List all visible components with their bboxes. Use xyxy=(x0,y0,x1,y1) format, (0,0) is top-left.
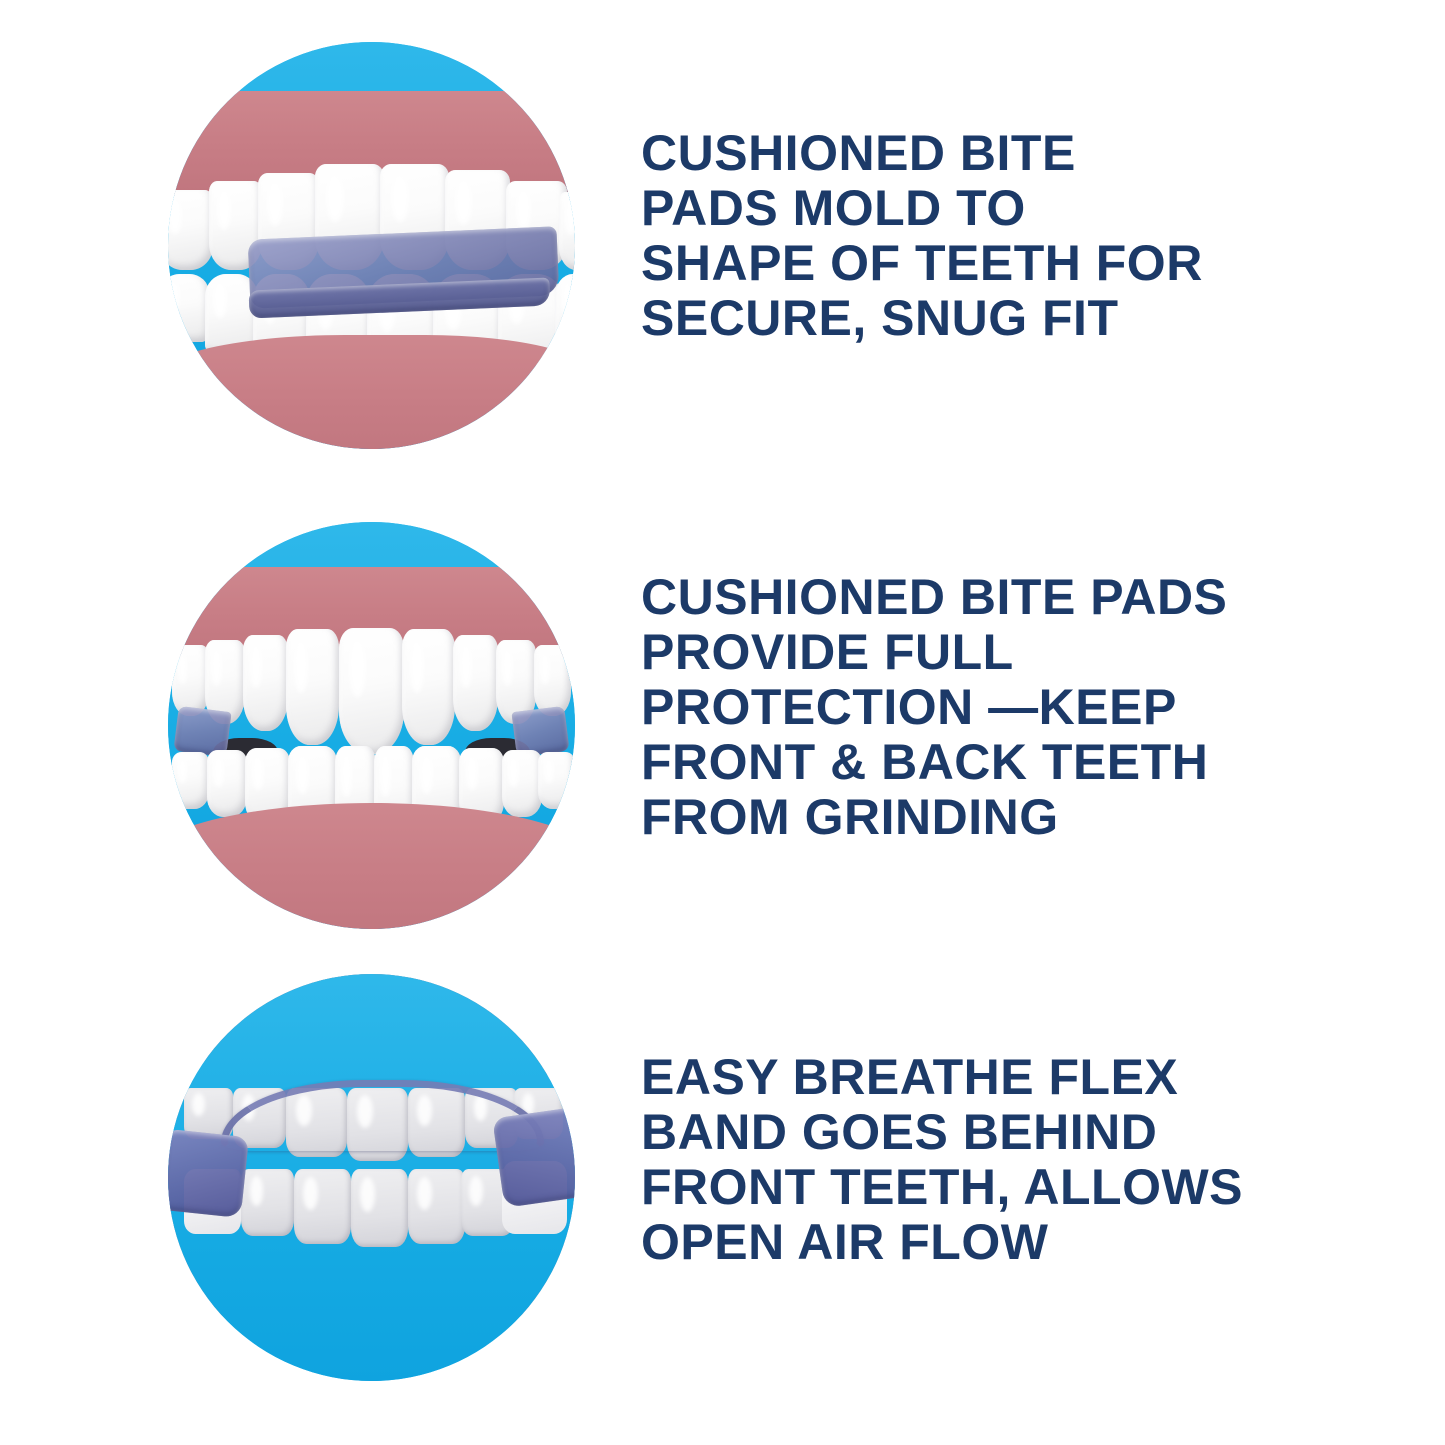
bite-pad-left xyxy=(168,1129,249,1218)
tooth xyxy=(502,750,543,817)
tooth xyxy=(559,192,575,270)
tooth xyxy=(351,1169,408,1246)
bite-pad-right xyxy=(492,1107,575,1208)
tooth xyxy=(207,750,248,817)
tooth xyxy=(555,274,575,354)
tooth xyxy=(172,752,209,809)
tooth xyxy=(168,190,213,270)
feature-row-3: EASY BREATHE FLEX BAND GOES BEHIND FRONT… xyxy=(0,945,1445,1415)
tooth xyxy=(534,645,571,716)
feature-2-caption: CUSHIONED BITE PADS PROVIDE FULL PROTECT… xyxy=(641,570,1381,845)
tooth xyxy=(402,629,455,745)
lower-gum xyxy=(168,803,575,929)
illustration-side-bite-view xyxy=(168,42,575,449)
tooth xyxy=(408,1169,465,1243)
tooth xyxy=(243,635,288,731)
scene-side-bite xyxy=(168,42,575,449)
feature-row-2: CUSHIONED BITE PADS PROVIDE FULL PROTECT… xyxy=(0,490,1445,960)
tooth xyxy=(538,752,575,809)
tooth xyxy=(168,274,209,342)
illustration-front-smile-view xyxy=(168,522,575,929)
feature-1-caption: CUSHIONED BITE PADS MOLD TO SHAPE OF TEE… xyxy=(641,126,1381,346)
scene-front-smile xyxy=(168,522,575,929)
tooth xyxy=(241,1169,294,1236)
illustration-lingual-flex-band-view xyxy=(168,974,575,1381)
tooth xyxy=(339,628,404,754)
scene-lingual-flex-band xyxy=(168,974,575,1381)
feature-3-caption: EASY BREATHE FLEX BAND GOES BEHIND FRONT… xyxy=(641,1050,1381,1270)
tooth xyxy=(294,1169,351,1243)
lower-gum xyxy=(168,335,575,449)
tooth xyxy=(286,629,339,745)
tooth xyxy=(172,645,209,716)
tooth xyxy=(453,635,498,731)
infographic-page: CUSHIONED BITE PADS MOLD TO SHAPE OF TEE… xyxy=(0,0,1445,1445)
feature-row-1: CUSHIONED BITE PADS MOLD TO SHAPE OF TEE… xyxy=(0,8,1445,478)
